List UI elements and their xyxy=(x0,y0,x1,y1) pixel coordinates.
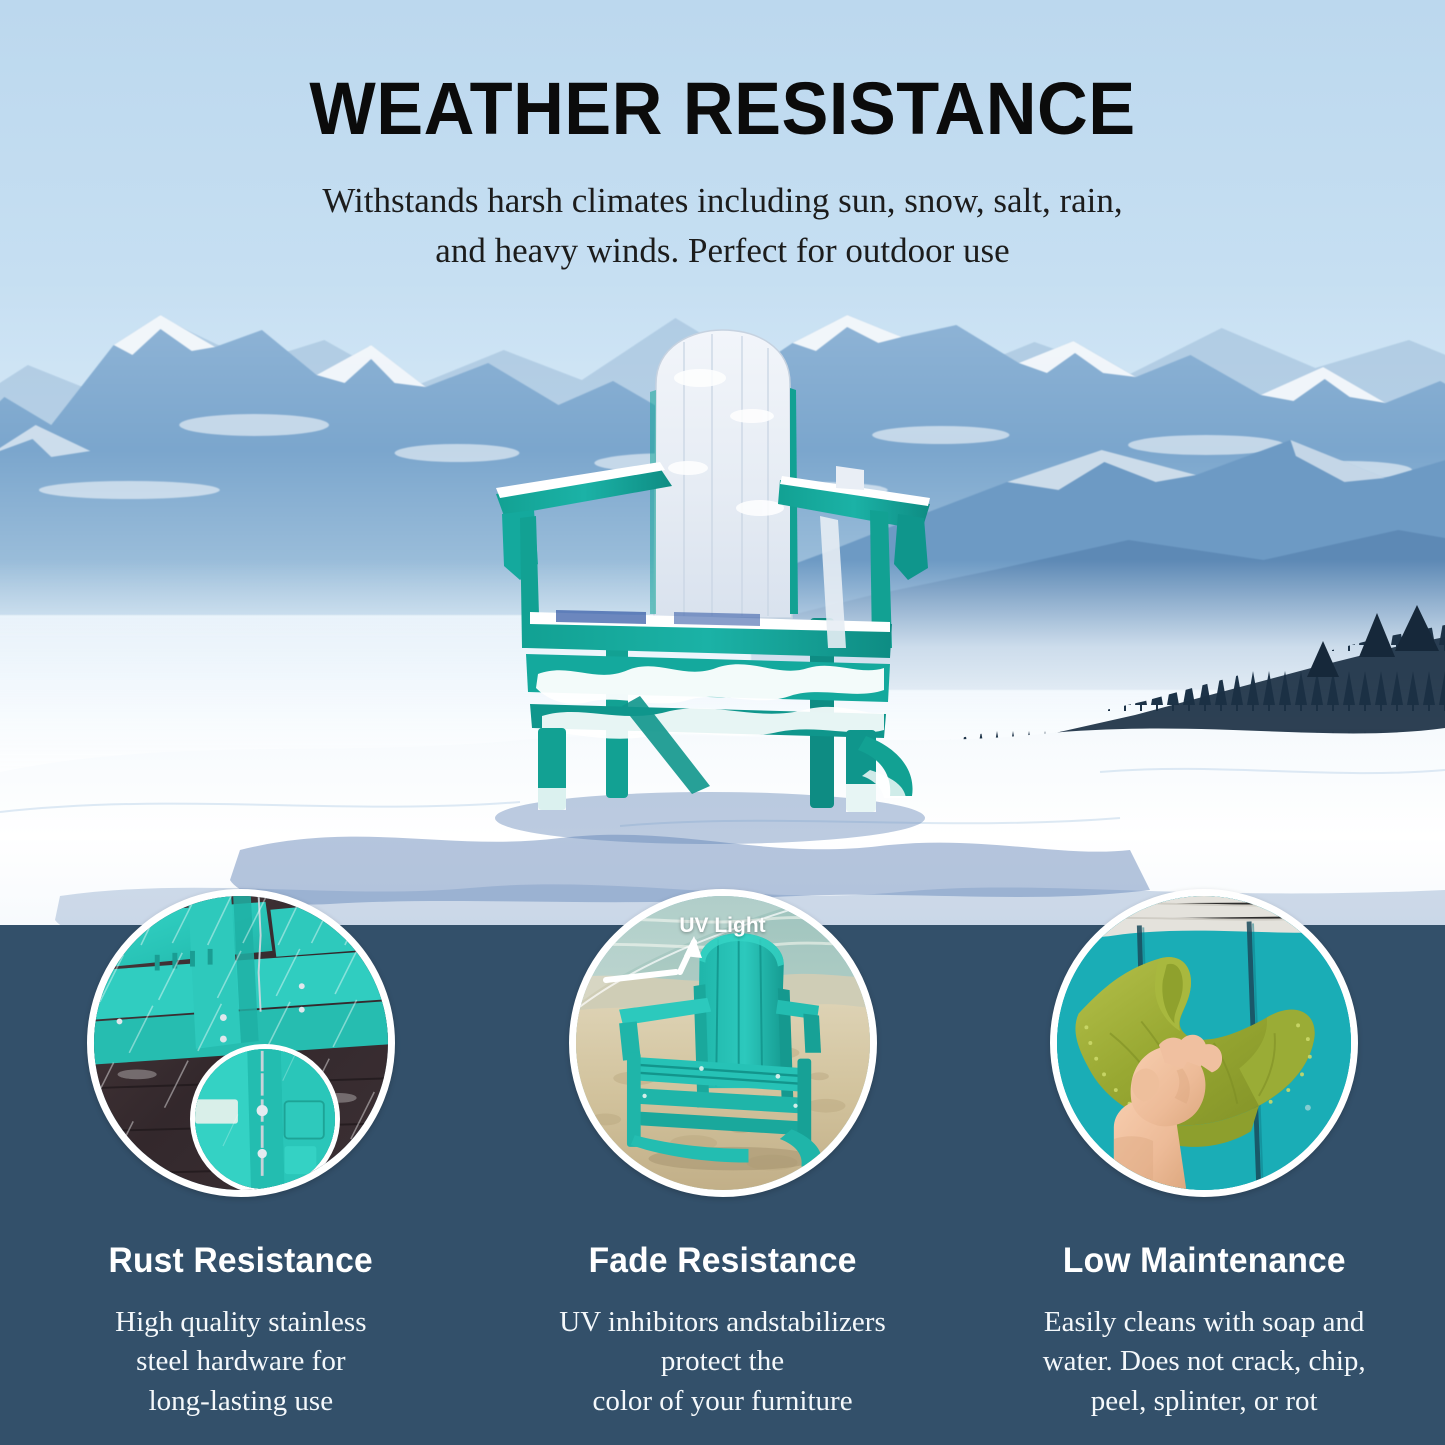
fade-resistance-title: Fade Resistance xyxy=(588,1241,856,1281)
fade-resistance-body: UV inhibitors andstabilizers protect the… xyxy=(559,1303,885,1421)
page-subtitle: Withstands harsh climates including sun,… xyxy=(0,176,1445,275)
body-line-1: Easily cleans with soap and xyxy=(1043,1303,1366,1342)
subtitle-line-1: Withstands harsh climates including sun,… xyxy=(0,176,1445,226)
hardware-detail-inset xyxy=(190,1044,340,1194)
rust-resistance-image[interactable] xyxy=(87,889,395,1197)
low-maintenance-title: Low Maintenance xyxy=(1063,1241,1346,1281)
feature-card-fade-resistance: UV Light Fade Resistance UV inhibitors a… xyxy=(482,875,964,1445)
body-line-2: water. Does not crack, chip, xyxy=(1043,1342,1366,1381)
feature-card-low-maintenance: Low Maintenance Easily cleans with soap … xyxy=(963,875,1445,1445)
body-line-2: steel hardware for xyxy=(115,1342,366,1381)
body-line-3: peel, splinter, or rot xyxy=(1043,1382,1366,1421)
feature-card-rust-resistance: Rust Resistance High quality stainless s… xyxy=(0,875,482,1445)
body-line-1: High quality stainless xyxy=(115,1303,366,1342)
rust-resistance-title: Rust Resistance xyxy=(109,1241,373,1281)
fade-resistance-image[interactable]: UV Light xyxy=(569,889,877,1197)
low-maintenance-image[interactable] xyxy=(1050,889,1358,1197)
subtitle-line-2: and heavy winds. Perfect for outdoor use xyxy=(0,226,1445,276)
body-line-1: UV inhibitors andstabilizers xyxy=(559,1303,885,1342)
header: WEATHER RESISTANCE Withstands harsh clim… xyxy=(0,0,1445,275)
rust-resistance-body: High quality stainless steel hardware fo… xyxy=(115,1303,366,1421)
body-line-3: long-lasting use xyxy=(115,1382,366,1421)
low-maintenance-body: Easily cleans with soap and water. Does … xyxy=(1043,1303,1366,1421)
feature-card-list: Rust Resistance High quality stainless s… xyxy=(0,875,1445,1445)
uv-light-arrow-icon xyxy=(598,928,748,998)
body-line-3: color of your furniture xyxy=(559,1382,885,1421)
page-title: WEATHER RESISTANCE xyxy=(36,72,1409,146)
infographic-canvas: WEATHER RESISTANCE Withstands harsh clim… xyxy=(0,0,1445,1445)
hero-chair-image xyxy=(460,318,960,838)
body-line-2: protect the xyxy=(559,1342,885,1381)
